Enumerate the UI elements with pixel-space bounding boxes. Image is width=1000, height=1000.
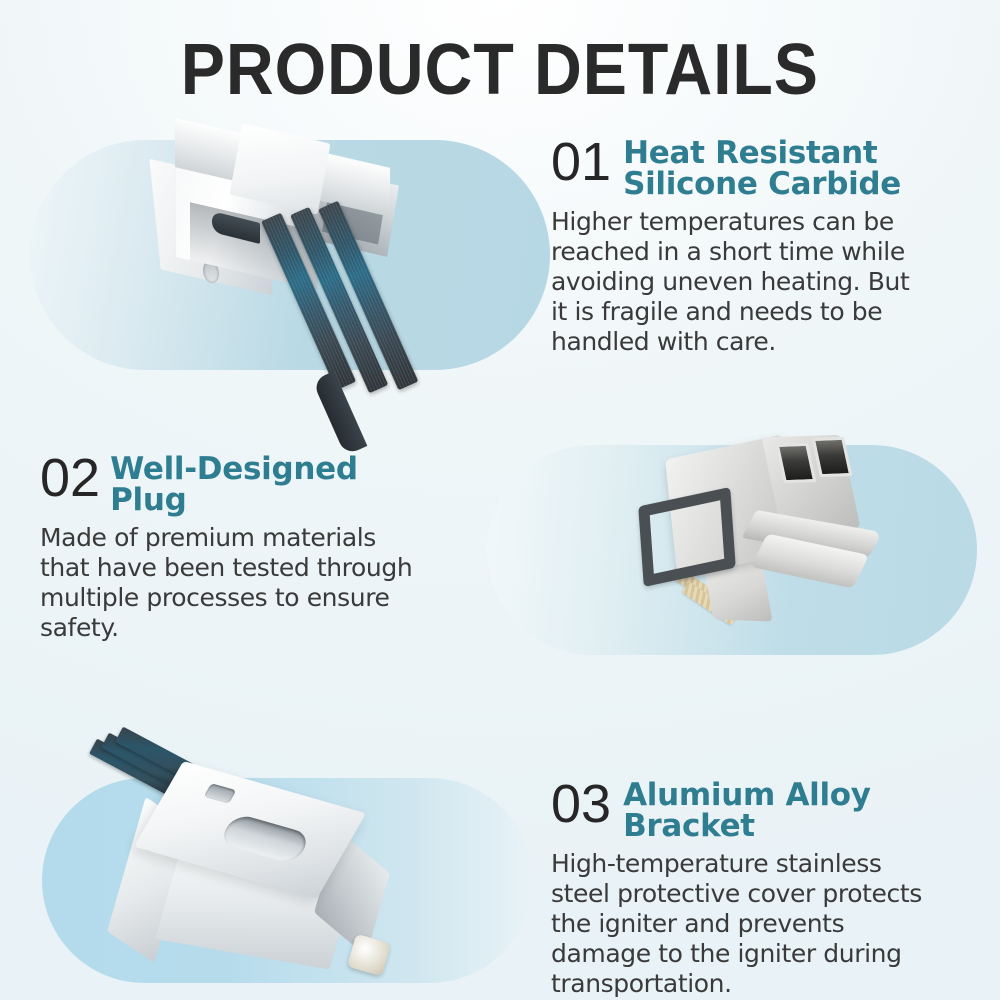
- detail-section-03: 03 Alumium Alloy Bracket High-temperatur…: [551, 778, 979, 999]
- body-line: reached in a short time while: [551, 237, 981, 267]
- body-line: Made of premium materials: [40, 523, 488, 553]
- section-heading-line: Bracket: [623, 811, 871, 842]
- ceramic-terminal-block: [347, 934, 391, 977]
- section-01-header: 01 Heat Resistant Silicone Carbide: [551, 136, 981, 200]
- section-heading-line: Silicone Carbide: [623, 169, 901, 200]
- section-number-02: 02: [40, 452, 100, 504]
- body-line: that have been tested through: [40, 553, 488, 583]
- body-line: handled with care.: [551, 327, 981, 357]
- detail-section-01: 01 Heat Resistant Silicone Carbide Highe…: [551, 136, 981, 357]
- product-image-stainless-bracket: [95, 760, 435, 1000]
- section-body-02: Made of premium materials that have been…: [40, 523, 488, 643]
- page-title-wrapper: PRODUCT DETAILS: [0, 34, 1000, 106]
- terminal-port: [812, 437, 853, 477]
- section-heading-03: Alumium Alloy Bracket: [623, 778, 871, 842]
- section-number-01: 01: [551, 136, 611, 188]
- body-line: High-temperature stainless: [551, 849, 979, 879]
- body-line: the igniter and prevents: [551, 909, 979, 939]
- product-details-infographic: PRODUCT DETAILS: [0, 0, 1000, 1000]
- section-heading-line: Alumium Alloy: [623, 780, 871, 811]
- page-title: PRODUCT DETAILS: [181, 34, 819, 106]
- igniter-prong-bridge: [312, 371, 367, 456]
- section-heading-line: Plug: [110, 485, 358, 516]
- section-heading-02: Well-Designed Plug: [110, 452, 358, 516]
- section-body-03: High-temperature stainless steel protect…: [551, 849, 979, 999]
- body-line: safety.: [40, 613, 488, 643]
- body-line: it is fragile and needs to be: [551, 297, 981, 327]
- section-heading-line: Heat Resistant: [623, 138, 901, 169]
- product-image-silicon-carbide-igniter: [150, 125, 490, 425]
- body-line: Higher temperatures can be: [551, 207, 981, 237]
- section-02-header: 02 Well-Designed Plug: [40, 452, 488, 516]
- body-line: multiple processes to ensure: [40, 583, 488, 613]
- body-line: damage to the igniter during: [551, 939, 979, 969]
- body-line: avoiding uneven heating. But: [551, 267, 981, 297]
- section-heading-line: Well-Designed: [110, 454, 358, 485]
- section-number-03: 03: [551, 778, 611, 830]
- section-body-01: Higher temperatures can be reached in a …: [551, 207, 981, 357]
- section-heading-01: Heat Resistant Silicone Carbide: [623, 136, 901, 200]
- body-line: transportation.: [551, 969, 979, 999]
- product-image-connector-plug: [630, 425, 930, 655]
- body-line: steel protective cover protects: [551, 879, 979, 909]
- section-03-header: 03 Alumium Alloy Bracket: [551, 778, 979, 842]
- detail-section-02: 02 Well-Designed Plug Made of premium ma…: [40, 452, 488, 643]
